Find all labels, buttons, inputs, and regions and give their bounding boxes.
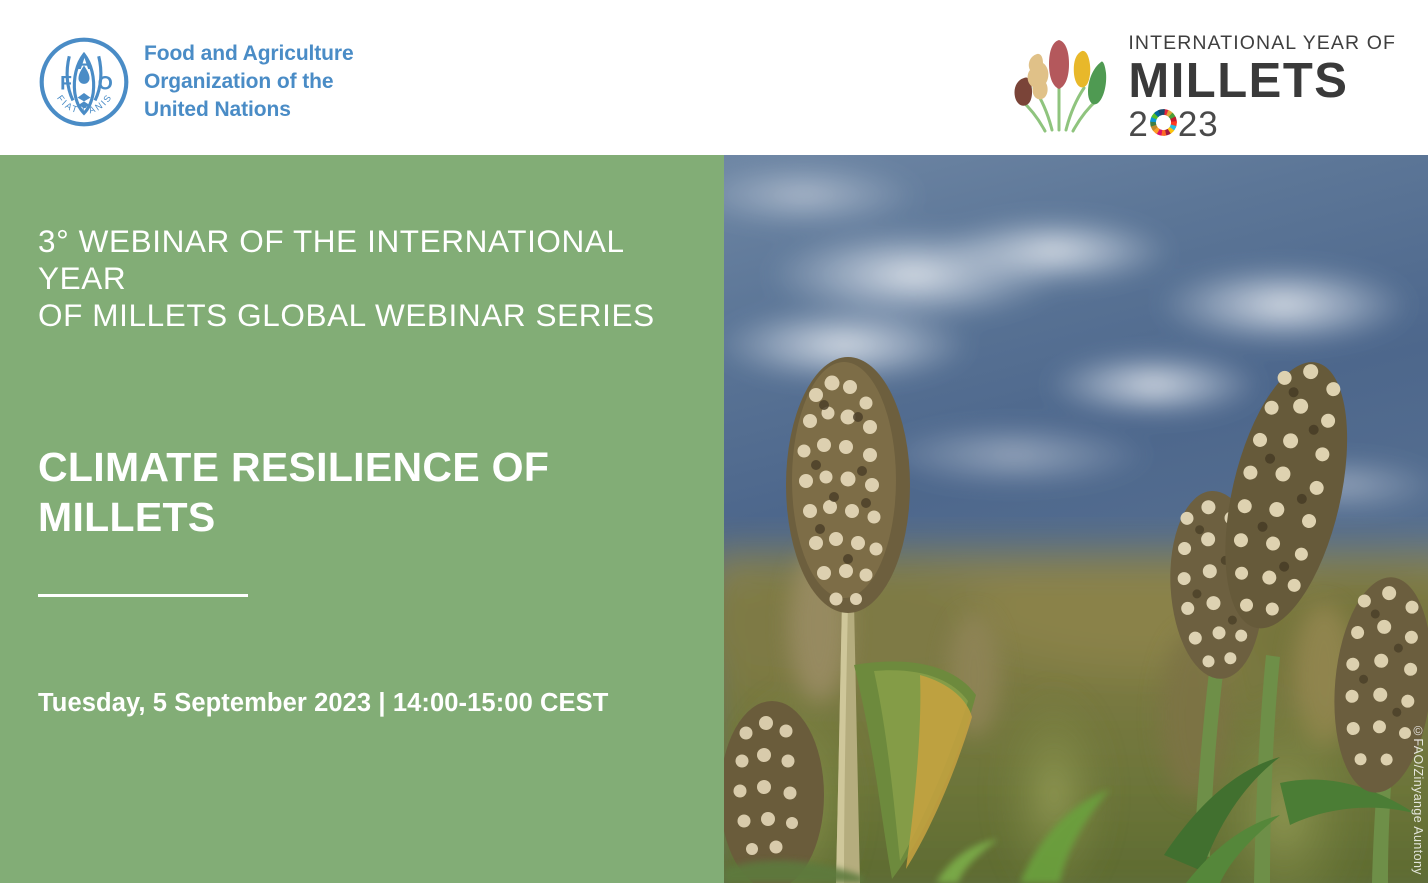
webinar-banner: F A O FIAT PANIS Food and Agriculture Or… <box>0 0 1428 883</box>
webinar-title: CLIMATE RESILIENCE OF MILLETS <box>38 442 638 543</box>
sorghum-millet-field-photo: ©FAO/Zinyange Auntony <box>724 155 1428 883</box>
iym-line-international-year-of: INTERNATIONAL YEAR OF <box>1128 34 1396 54</box>
iym-2023-logo: INTERNATIONAL YEAR OF MILLETS 2 <box>1004 30 1396 142</box>
webinar-series-label: 3° WEBINAR OF THE INTERNATIONAL YEAR OF … <box>38 223 698 334</box>
svg-text:O: O <box>98 73 113 94</box>
iym-wordmark: INTERNATIONAL YEAR OF MILLETS 2 <box>1128 30 1396 142</box>
sdg-wheel-icon <box>1149 107 1178 142</box>
header-bar: F A O FIAT PANIS Food and Agriculture Or… <box>0 0 1428 155</box>
fao-emblem-icon: F A O FIAT PANIS <box>38 36 130 128</box>
webinar-datetime: Tuesday, 5 September 2023 | 14:00-15:00 … <box>38 689 608 718</box>
year-suffix: 23 <box>1178 107 1219 142</box>
iym-line-year: 2 <box>1128 107 1396 142</box>
info-panel: 3° WEBINAR OF THE INTERNATIONAL YEAR OF … <box>0 155 724 883</box>
svg-text:A: A <box>78 53 92 74</box>
photo-credit: ©FAO/Zinyange Auntony <box>1410 722 1427 877</box>
fao-organization-name: Food and Agriculture Organization of the… <box>144 40 354 123</box>
millet-stalks-icon <box>1004 30 1114 136</box>
year-prefix: 2 <box>1128 107 1148 142</box>
svg-text:F: F <box>60 73 72 94</box>
fao-logo: F A O FIAT PANIS Food and Agriculture Or… <box>38 36 354 128</box>
iym-line-millets: MILLETS <box>1128 58 1396 105</box>
title-divider-rule <box>38 594 248 597</box>
